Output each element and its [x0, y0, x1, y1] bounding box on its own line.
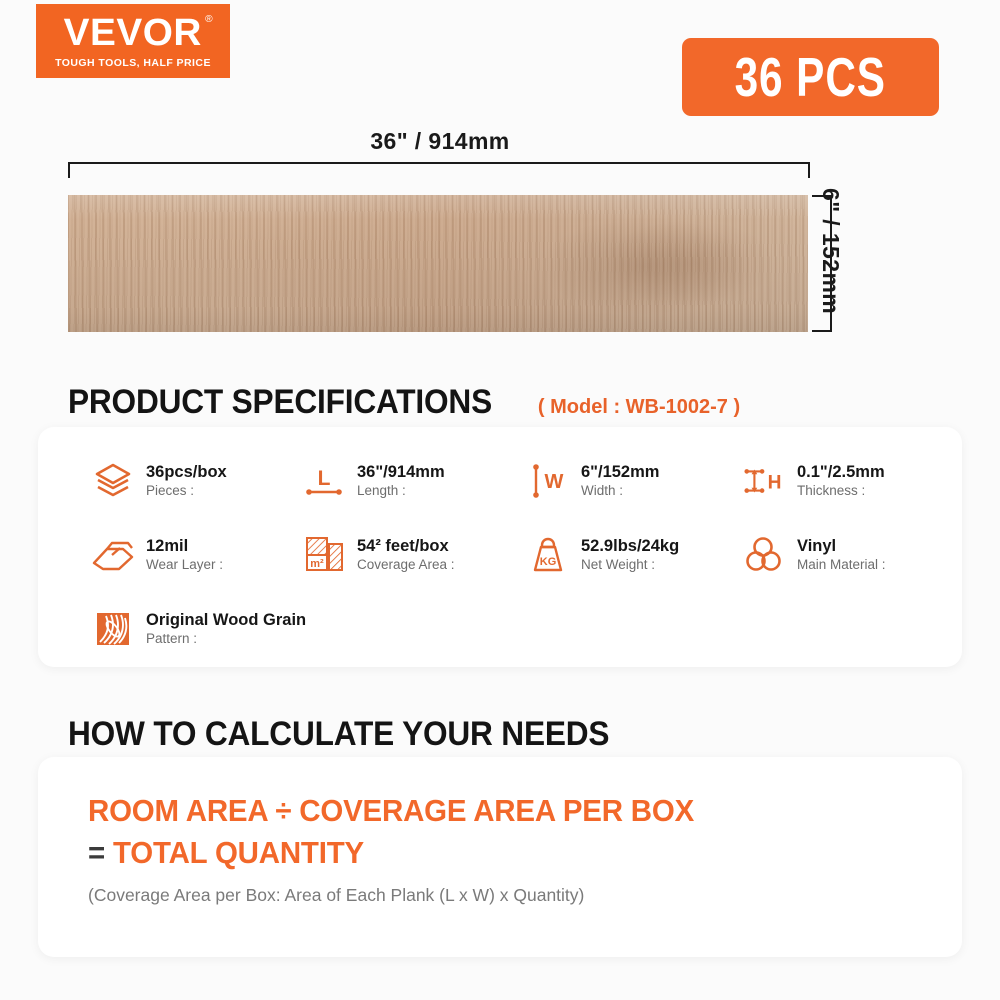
- thickness-h-icon: H: [741, 459, 787, 503]
- wear-layer-icon: [90, 533, 136, 577]
- model-number: ( Model : WB-1002-7 ): [538, 396, 740, 419]
- material-circles-icon: [741, 533, 787, 577]
- formula-equals-sign: =: [88, 835, 105, 870]
- spec-label-wear-layer: Wear Layer :: [146, 556, 223, 574]
- brand-name-text: VEVOR: [64, 12, 202, 54]
- spec-item-width: W 6"/152mm Width :: [525, 455, 741, 507]
- specifications-card: 36pcs/box Pieces : L 36"/914mm Length :: [38, 427, 962, 667]
- spec-value-main-material: Vinyl: [797, 536, 886, 556]
- formula-result: TOTAL QUANTITY: [113, 835, 364, 870]
- spec-label-length: Length :: [357, 482, 445, 500]
- infographic-page: VEVOR® TOUGH TOOLS, HALF PRICE 36 PCS 36…: [0, 0, 1000, 1000]
- spec-item-length: L 36"/914mm Length :: [301, 455, 525, 507]
- coverage-area-icon: m²: [301, 533, 347, 577]
- spec-item-pattern: Original Wood Grain Pattern :: [90, 603, 301, 655]
- spec-text-width: 6"/152mm Width :: [581, 462, 659, 500]
- spec-item-wear-layer: 12mil Wear Layer :: [90, 529, 301, 581]
- formula-line-1: ROOM AREA ÷ COVERAGE AREA PER BOX: [88, 793, 694, 829]
- spec-label-coverage-area: Coverage Area :: [357, 556, 455, 574]
- brand-tagline: TOUGH TOOLS, HALF PRICE: [55, 57, 211, 69]
- spec-value-length: 36"/914mm: [357, 462, 445, 482]
- spec-label-width: Width :: [581, 482, 659, 500]
- svg-text:L: L: [318, 467, 331, 490]
- spec-item-coverage-area: m² 54² feet/box Coverage Area :: [301, 529, 525, 581]
- svg-text:m²: m²: [310, 558, 324, 570]
- spec-text-wear-layer: 12mil Wear Layer :: [146, 536, 223, 574]
- spec-item-thickness: H 0.1"/2.5mm Thickness :: [741, 455, 950, 507]
- spec-item-pieces: 36pcs/box Pieces :: [90, 455, 301, 507]
- quantity-badge-label: 36 PCS: [735, 45, 886, 109]
- spec-text-pattern: Original Wood Grain Pattern :: [146, 610, 306, 648]
- width-w-icon: W: [525, 459, 571, 503]
- formula-note: (Coverage Area per Box: Area of Each Pla…: [88, 885, 584, 906]
- spec-text-main-material: Vinyl Main Material :: [797, 536, 886, 574]
- spec-label-pieces: Pieces :: [146, 482, 227, 500]
- spec-text-net-weight: 52.9lbs/24kg Net Weight :: [581, 536, 679, 574]
- svg-text:W: W: [545, 471, 564, 493]
- product-image-area: 36" / 914mm 6" / 152mm: [0, 110, 1000, 360]
- length-dimension-bracket: [68, 162, 810, 178]
- spec-item-main-material: Vinyl Main Material :: [741, 529, 950, 581]
- spec-value-thickness: 0.1"/2.5mm: [797, 462, 885, 482]
- length-l-icon: L: [301, 459, 347, 503]
- brand-name: VEVOR®: [64, 14, 202, 52]
- spec-text-length: 36"/914mm Length :: [357, 462, 445, 500]
- spec-item-net-weight: KG 52.9lbs/24kg Net Weight :: [525, 529, 741, 581]
- specifications-heading: PRODUCT SPECIFICATIONS ( Model : WB-1002…: [68, 383, 740, 422]
- spec-value-net-weight: 52.9lbs/24kg: [581, 536, 679, 556]
- quantity-badge: 36 PCS: [682, 38, 939, 116]
- length-dimension-label: 36" / 914mm: [300, 128, 580, 155]
- spec-text-pieces: 36pcs/box Pieces :: [146, 462, 227, 500]
- spec-value-pieces: 36pcs/box: [146, 462, 227, 482]
- calculate-title: HOW TO CALCULATE YOUR NEEDS: [68, 715, 609, 754]
- svg-text:KG: KG: [540, 556, 557, 568]
- spec-value-width: 6"/152mm: [581, 462, 659, 482]
- specifications-grid: 36pcs/box Pieces : L 36"/914mm Length :: [90, 455, 950, 655]
- calculate-card: ROOM AREA ÷ COVERAGE AREA PER BOX = TOTA…: [38, 757, 962, 957]
- spec-label-thickness: Thickness :: [797, 482, 885, 500]
- spec-label-main-material: Main Material :: [797, 556, 886, 574]
- svg-text:H: H: [768, 473, 782, 494]
- calculate-heading: HOW TO CALCULATE YOUR NEEDS: [68, 715, 650, 754]
- brand-logo: VEVOR® TOUGH TOOLS, HALF PRICE: [36, 4, 230, 78]
- spec-label-pattern: Pattern :: [146, 630, 306, 648]
- layers-icon: [90, 459, 136, 503]
- spec-label-net-weight: Net Weight :: [581, 556, 679, 574]
- vinyl-plank-image: [68, 195, 808, 332]
- spec-value-wear-layer: 12mil: [146, 536, 223, 556]
- spec-text-thickness: 0.1"/2.5mm Thickness :: [797, 462, 885, 500]
- wood-grain-icon: [90, 607, 136, 651]
- formula-line-2: = TOTAL QUANTITY: [88, 835, 364, 871]
- spec-text-coverage-area: 54² feet/box Coverage Area :: [357, 536, 455, 574]
- spec-value-coverage-area: 54² feet/box: [357, 536, 455, 556]
- width-dimension-label: 6" / 152mm: [818, 188, 844, 338]
- registered-mark-icon: ®: [205, 15, 213, 25]
- spec-value-pattern: Original Wood Grain: [146, 610, 306, 630]
- weight-kg-icon: KG: [525, 533, 571, 577]
- specifications-title: PRODUCT SPECIFICATIONS: [68, 383, 492, 422]
